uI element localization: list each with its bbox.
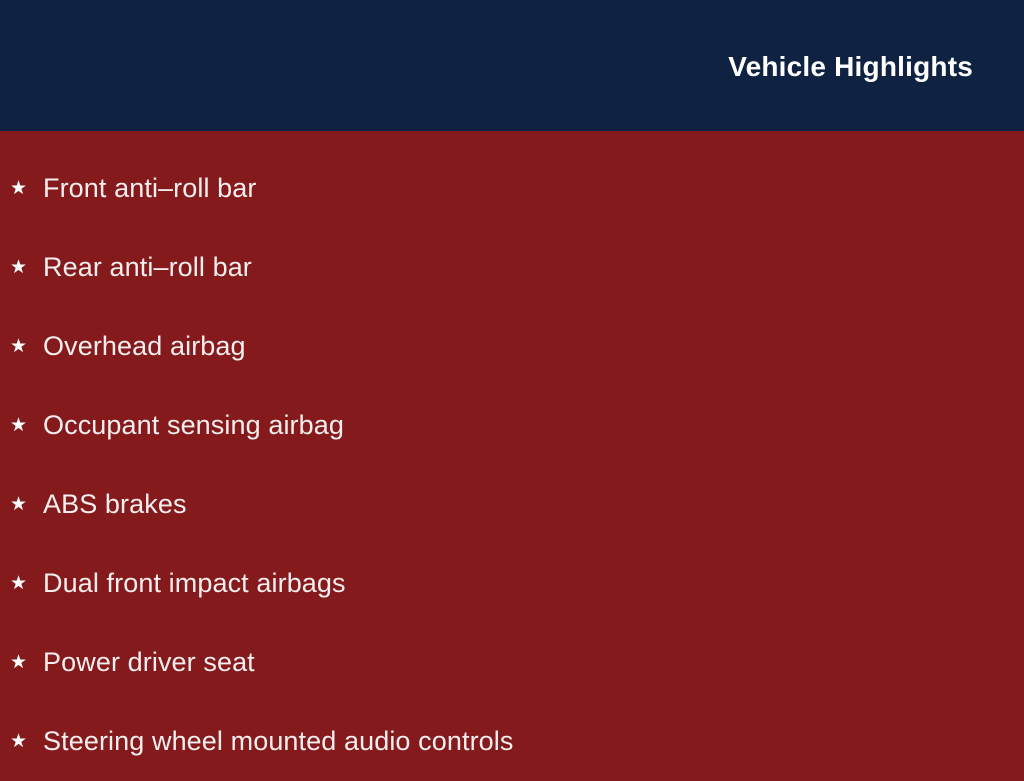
- list-item-label: ABS brakes: [43, 490, 187, 520]
- star-icon: ★: [10, 653, 32, 672]
- list-item: ★ Overhead airbag: [0, 307, 1024, 386]
- list-item-label: Occupant sensing airbag: [43, 411, 344, 441]
- list-item: ★ ABS brakes: [0, 465, 1024, 544]
- list-item: ★ Power driver seat: [0, 623, 1024, 702]
- slide-body: ★ Front anti–roll bar ★ Rear anti–roll b…: [0, 131, 1024, 768]
- list-item-label: Steering wheel mounted audio controls: [43, 727, 514, 757]
- star-icon: ★: [10, 416, 32, 435]
- list-item: ★ Dual front impact airbags: [0, 544, 1024, 623]
- star-icon: ★: [10, 258, 32, 277]
- list-item: ★ Occupant sensing airbag: [0, 386, 1024, 465]
- list-item: ★ Steering wheel mounted audio controls: [0, 702, 1024, 781]
- page-title: Vehicle Highlights: [728, 53, 973, 81]
- star-icon: ★: [10, 179, 32, 198]
- star-icon: ★: [10, 732, 32, 751]
- list-item-label: Front anti–roll bar: [43, 174, 257, 204]
- star-icon: ★: [10, 495, 32, 514]
- star-icon: ★: [10, 337, 32, 356]
- star-icon: ★: [10, 574, 32, 593]
- list-item: ★ Rear anti–roll bar: [0, 228, 1024, 307]
- vehicle-highlights-list: ★ Front anti–roll bar ★ Rear anti–roll b…: [0, 149, 1024, 781]
- slide-root: Vehicle Highlights ★ Front anti–roll bar…: [0, 0, 1024, 768]
- list-item-label: Rear anti–roll bar: [43, 253, 252, 283]
- list-item-label: Dual front impact airbags: [43, 569, 346, 599]
- list-item-label: Power driver seat: [43, 648, 255, 678]
- list-item-label: Overhead airbag: [43, 332, 246, 362]
- list-item: ★ Front anti–roll bar: [0, 149, 1024, 228]
- slide-header: Vehicle Highlights: [0, 0, 1024, 131]
